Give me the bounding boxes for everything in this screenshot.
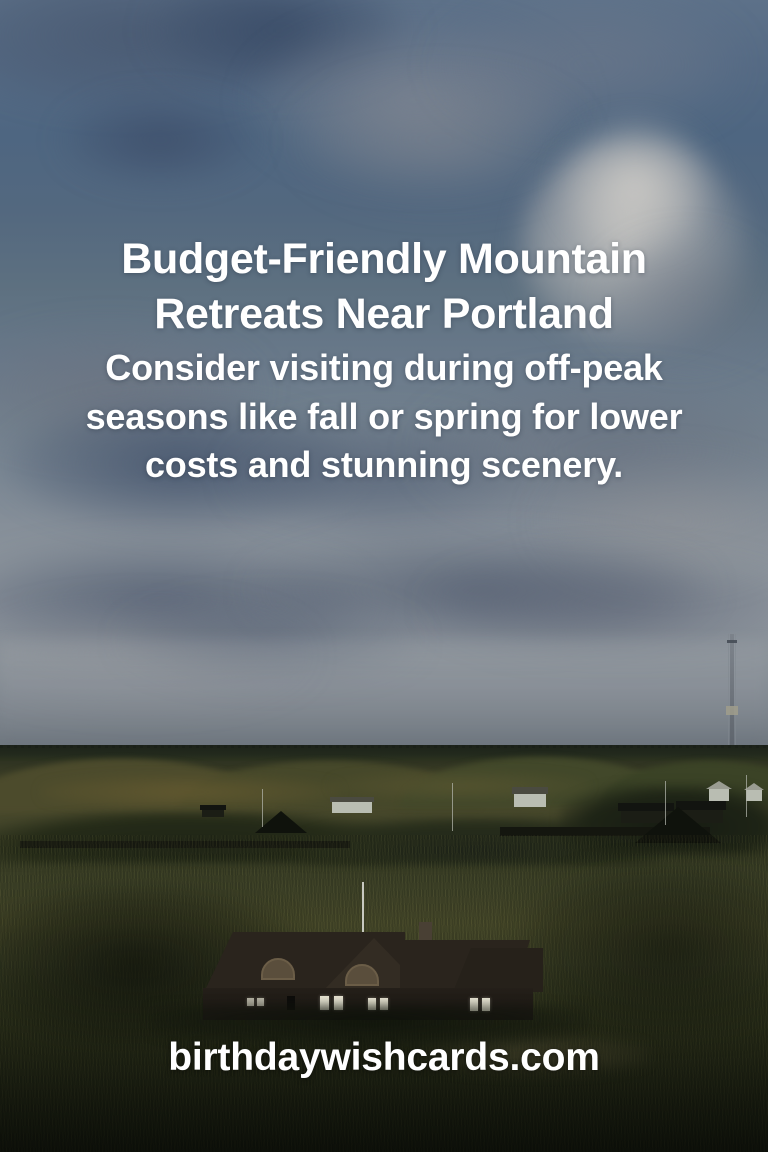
mast-column bbox=[730, 634, 734, 752]
cumulus-cloud-top bbox=[560, 120, 710, 250]
mast-platform bbox=[726, 706, 738, 715]
building-wall bbox=[514, 794, 546, 807]
farm-building-white bbox=[706, 781, 732, 801]
building-wall bbox=[332, 802, 372, 813]
horizon-haze bbox=[0, 640, 768, 752]
page-title: Budget-Friendly Mountain Retreats Near P… bbox=[36, 232, 732, 342]
utility-pole bbox=[746, 775, 747, 817]
stratus-band bbox=[430, 560, 768, 650]
sand-patch bbox=[40, 775, 340, 809]
mast-leg-left bbox=[728, 634, 729, 752]
utility-pole bbox=[262, 789, 263, 827]
text-overlay: Budget-Friendly Mountain Retreats Near P… bbox=[0, 232, 768, 490]
website-url[interactable]: birthdaywishcards.com bbox=[0, 1036, 768, 1080]
farm-building-white bbox=[744, 783, 764, 801]
farm-building-white bbox=[512, 787, 548, 807]
building-roof bbox=[676, 801, 726, 810]
flagpole bbox=[362, 882, 364, 936]
cloud-wisp bbox=[300, 80, 580, 200]
building-roof bbox=[512, 787, 548, 794]
pinterest-travel-card: Budget-Friendly Mountain Retreats Near P… bbox=[0, 0, 768, 1152]
building-wall bbox=[709, 789, 729, 801]
cloud-wisp bbox=[250, 20, 580, 180]
stratus-band bbox=[0, 545, 370, 655]
utility-pole bbox=[665, 781, 666, 825]
page-subtitle: Consider visiting during off-peak season… bbox=[36, 344, 732, 490]
building-roof bbox=[706, 781, 732, 789]
utility-pole bbox=[452, 783, 453, 831]
radio-mast-icon bbox=[726, 634, 738, 752]
stratus-band bbox=[250, 540, 710, 640]
cloud-wisp bbox=[60, 95, 260, 185]
cloud-wisp bbox=[150, 0, 410, 90]
building-wall bbox=[202, 810, 224, 817]
mast-antenna-top bbox=[727, 640, 737, 643]
mast-leg-right bbox=[735, 634, 736, 752]
building-wall bbox=[746, 790, 762, 801]
cloud-wisp bbox=[440, 0, 740, 130]
farm-building-dark bbox=[200, 805, 226, 817]
farm-building-white bbox=[330, 797, 374, 813]
building-roof bbox=[744, 783, 764, 790]
cloud-wisp bbox=[0, 0, 320, 110]
